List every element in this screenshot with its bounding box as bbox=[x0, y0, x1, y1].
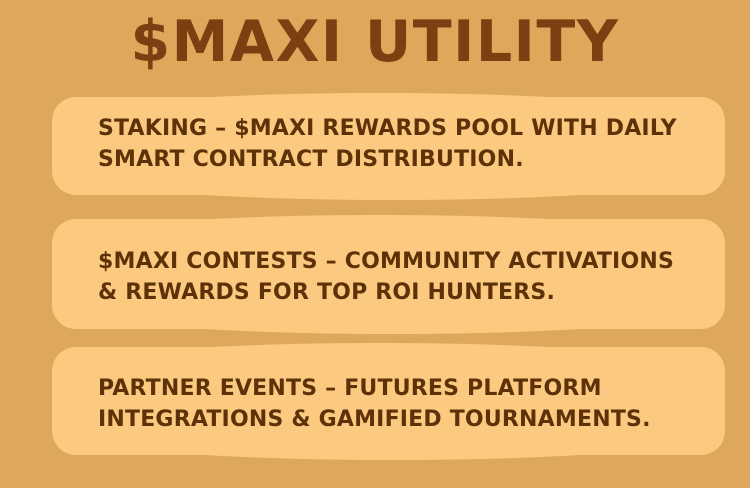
utility-card-partner-events-text: PARTNER EVENTS – FUTURES PLATFORM INTEGR… bbox=[98, 373, 695, 435]
utility-card-staking-text: STAKING – $MAXI REWARDS POOL WITH DAILY … bbox=[98, 113, 695, 175]
utility-slide: $MAXI UTILITY STAKING – $MAXI REWARDS PO… bbox=[0, 0, 750, 488]
utility-card-partner-events: PARTNER EVENTS – FUTURES PLATFORM INTEGR… bbox=[52, 347, 725, 455]
utility-card-contests: $MAXI CONTESTS – COMMUNITY ACTIVATIONS &… bbox=[52, 219, 725, 329]
utility-card-staking: STAKING – $MAXI REWARDS POOL WITH DAILY … bbox=[52, 97, 725, 195]
utility-card-contests-text: $MAXI CONTESTS – COMMUNITY ACTIVATIONS &… bbox=[98, 246, 695, 308]
page-title: $MAXI UTILITY bbox=[0, 9, 750, 75]
